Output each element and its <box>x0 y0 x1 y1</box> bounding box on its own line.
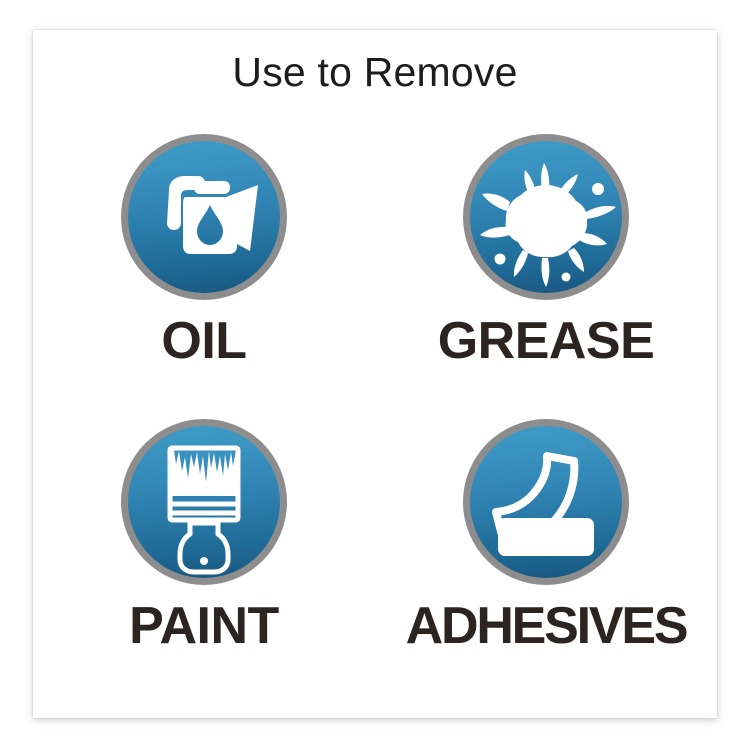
feature-item-adhesives: ADHESIVES <box>375 419 717 704</box>
feature-label-grease: GREASE <box>438 314 655 369</box>
feature-grid: OIL <box>33 134 717 704</box>
product-feature-card: Use to Remove <box>33 30 717 718</box>
feature-label-paint: PAINT <box>129 599 279 654</box>
page-title: Use to Remove <box>33 52 717 93</box>
paint-badge <box>121 419 287 585</box>
feature-item-oil: OIL <box>33 134 375 419</box>
adhesives-badge <box>463 419 629 585</box>
grease-badge <box>463 134 629 300</box>
feature-label-adhesives: ADHESIVES <box>406 599 687 654</box>
oil-can-icon <box>128 141 280 293</box>
feature-label-oil: OIL <box>161 314 246 369</box>
screenshot-canvas: Use to Remove <box>0 0 750 750</box>
peeling-tape-icon <box>470 426 622 578</box>
oil-badge <box>121 134 287 300</box>
paint-brush-icon <box>128 426 280 578</box>
grease-splatter-icon <box>470 141 622 293</box>
feature-item-grease: GREASE <box>375 134 717 419</box>
feature-item-paint: PAINT <box>33 419 375 704</box>
